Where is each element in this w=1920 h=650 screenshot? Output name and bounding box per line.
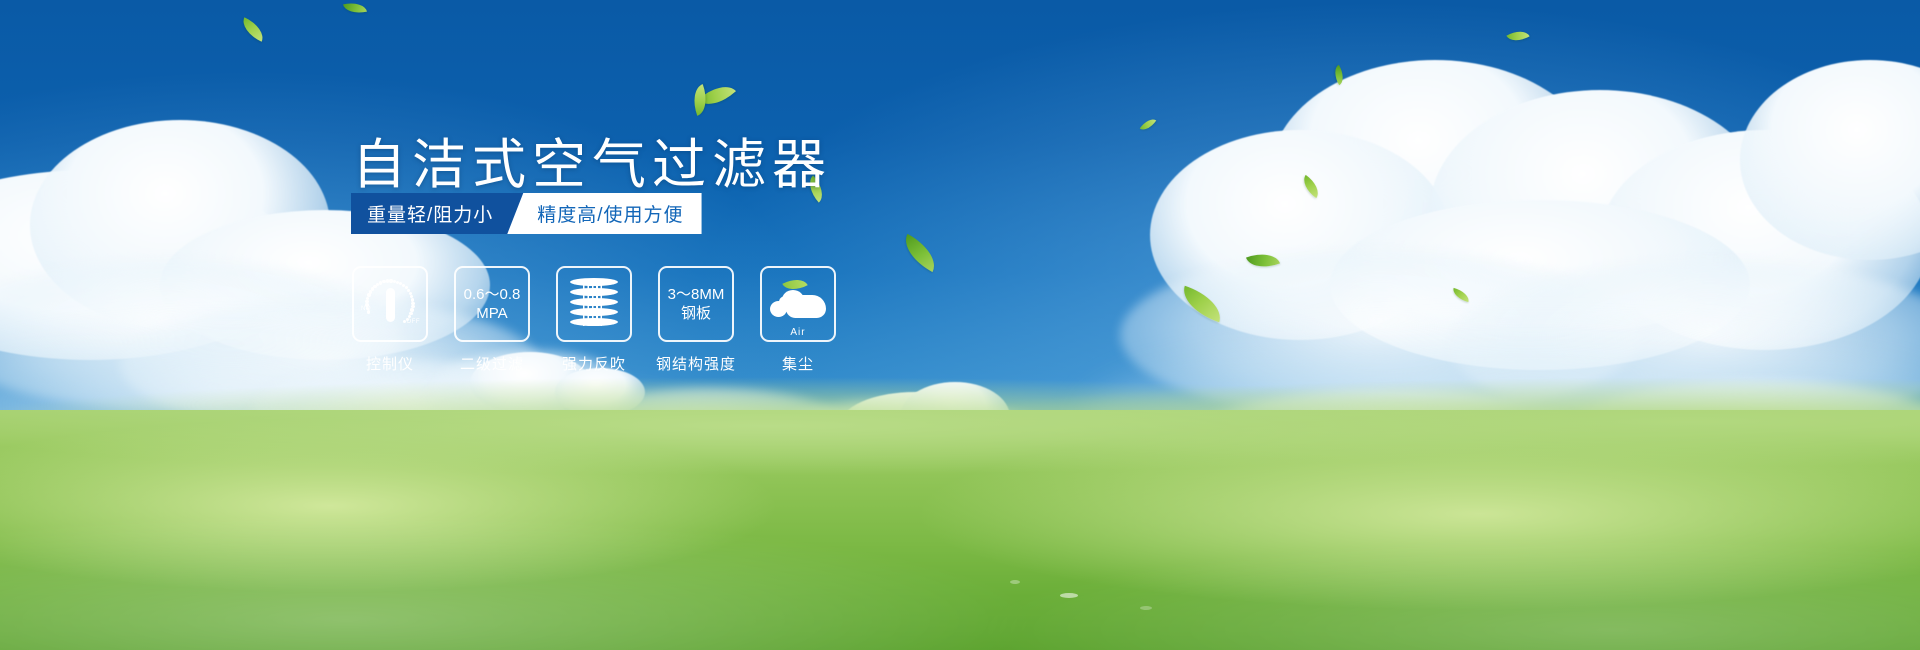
air-label: Air [770,327,826,338]
pressure-value-line1: 0.6～0.8 [464,285,521,304]
tag-high-precision-easy-use[interactable]: 精度高/使用方便 [507,193,701,234]
steel-value-line1: 3～8MM [668,285,725,304]
feature-label: 强力反吹 [562,353,626,374]
feature-label: 控制仪 [366,353,414,374]
tag-row: 重量轻/阻力小 精度高/使用方便 [351,193,702,234]
page-title: 自洁式空气过滤器 [352,120,832,199]
feature-item-steel-strength[interactable]: 3～8MM 钢板 钢结构强度 [658,266,734,374]
feature-item-dust-collection[interactable]: Air 集尘 [760,266,836,374]
feature-icon-box [556,266,632,342]
feature-item-two-stage-filter[interactable]: 0.6～0.8 MPA 二级过滤 [454,266,530,374]
dust-cloud-icon: Air [770,284,826,324]
coil-filter-icon [570,278,618,330]
feature-list: NO OFF 控制仪 0.6～0.8 MPA 二级过滤 [352,266,836,374]
feature-label: 二级过滤 [460,353,524,374]
feature-icon-box: Air [760,266,836,342]
feature-label: 集尘 [782,353,814,374]
feature-item-controller[interactable]: NO OFF 控制仪 [352,266,428,374]
feature-icon-box: NO OFF [352,266,428,342]
banner-content: 自洁式空气过滤器 重量轻/阻力小 精度高/使用方便 NO OFF 控制仪 [0,0,1920,650]
pressure-value-line2: MPA [476,304,507,323]
steel-value-line2: 钢板 [681,304,711,323]
feature-label: 钢结构强度 [656,353,736,374]
tag-lightweight-low-resistance[interactable]: 重量轻/阻力小 [351,193,523,234]
hero-banner: 自洁式空气过滤器 重量轻/阻力小 精度高/使用方便 NO OFF 控制仪 [0,0,1920,650]
feature-icon-box: 3～8MM 钢板 [658,266,734,342]
gauge-dial-icon: NO OFF [362,276,418,332]
feature-icon-box: 0.6～0.8 MPA [454,266,530,342]
feature-item-strong-backblow[interactable]: 强力反吹 [556,266,632,374]
